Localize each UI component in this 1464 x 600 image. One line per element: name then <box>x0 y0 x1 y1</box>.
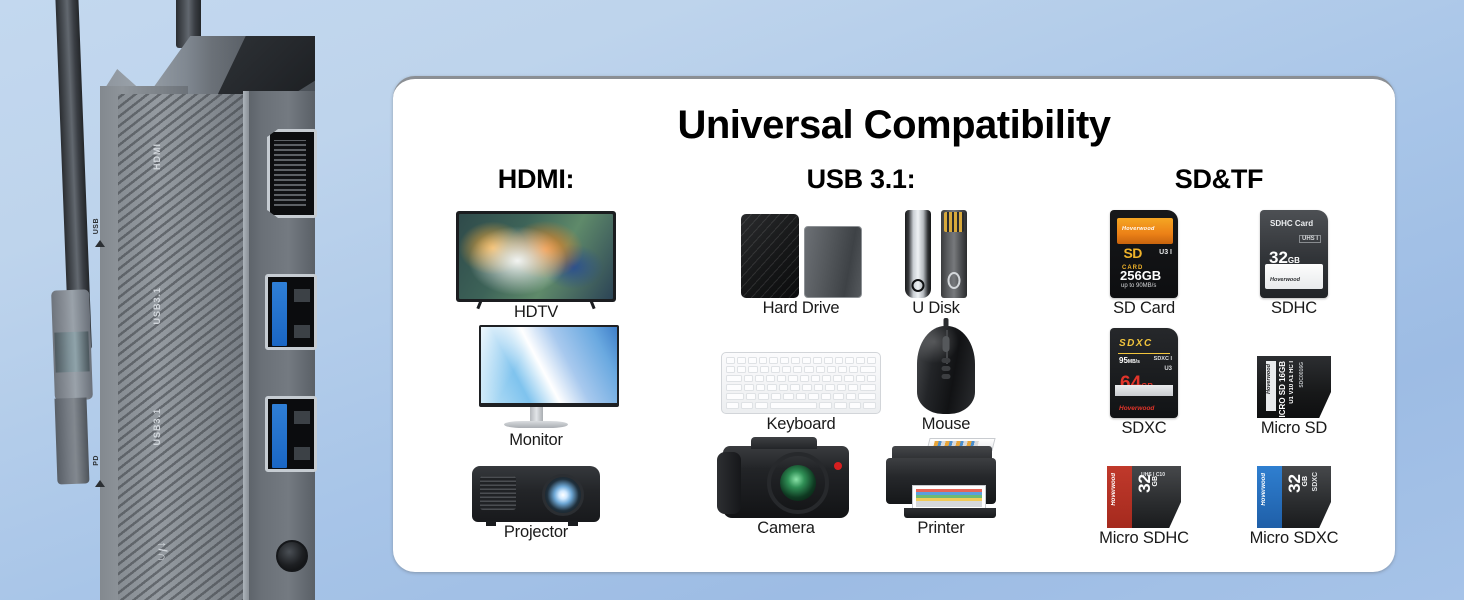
sd-card-uhs-rating: U3 I <box>1159 249 1172 256</box>
item-hard-drive[interactable]: Hard Drive <box>726 202 876 318</box>
item-mouse[interactable]: Mouse <box>886 318 1006 434</box>
monitor-icon <box>453 322 619 430</box>
item-sdhc[interactable]: SDHC Card UHS I 32GB Hoverwood SDHC <box>1219 202 1369 318</box>
keyboard-icon <box>716 318 886 414</box>
projector-icon <box>453 450 619 522</box>
sdxc-brand: Hoverwood <box>1119 405 1154 412</box>
micro-sdhc-badge: UHS I C10 <box>1141 472 1165 478</box>
row-usb-3: Camera Printer <box>671 434 1051 538</box>
column-hdmi: HDMI: HDTV <box>401 164 671 548</box>
row-usb-1: Hard Drive U Disk <box>671 202 1051 318</box>
hard-drive-icon <box>726 202 876 298</box>
item-label-projector: Projector <box>453 523 619 542</box>
item-micro-sdhc[interactable]: Hoverwood 32 GB UHS I C10 Micro SDHC <box>1069 438 1219 548</box>
audio-jack-port <box>276 540 308 572</box>
item-label-hard-drive: Hard Drive <box>726 299 876 318</box>
triangle-marker-icon <box>95 240 105 247</box>
row-hdmi-3: Projector <box>401 450 671 542</box>
sdhc-brand: Hoverwood <box>1270 277 1300 283</box>
usb-flash-drive-icon <box>876 202 996 298</box>
sdxc-uhs-rating: SDXC I <box>1154 356 1172 362</box>
sd-card-speed: up to 90MB/s <box>1121 283 1156 289</box>
compatibility-columns: HDMI: HDTV <box>393 164 1395 548</box>
usb-c-plug-tip <box>55 397 90 484</box>
item-label-micro-sdhc: Micro SDHC <box>1069 529 1219 548</box>
panel-title: Universal Compatibility <box>393 103 1395 148</box>
micro-sd-card-icon: Hoverwood MICRO SD 16GB U1 V10 A1 HC I S… <box>1219 318 1369 418</box>
row-sd-1: Hoverwood SD CARD U3 I 256GB up to 90MB/… <box>1051 202 1387 318</box>
sdxc-card-icon: SDXC 95MB/s SDXC I U3 64GB Hoverwood <box>1069 318 1219 418</box>
micro-sd-brand: Hoverwood <box>1266 364 1272 394</box>
micro-sdxc-brand: Hoverwood <box>1261 473 1267 506</box>
usb-3-1-port-lower <box>265 396 317 472</box>
micro-sd-line-1: MICRO SD 16GB <box>1278 361 1287 418</box>
item-monitor[interactable]: Monitor <box>453 322 619 450</box>
row-sd-2: SDXC 95MB/s SDXC I U3 64GB Hoverwood <box>1051 318 1387 438</box>
row-hdmi-2: Monitor <box>401 322 671 450</box>
micro-sd-line-2: U1 V10 A1 HC I <box>1289 361 1295 404</box>
sdhc-title: SDHC Card <box>1270 219 1313 228</box>
sdxc-speed-class: U3 <box>1164 366 1172 372</box>
mouse-icon <box>886 318 1006 414</box>
hdmi-port-pins <box>274 140 306 206</box>
product-photo: HDMI USB3.1 USB3.1 ↑/∩ USB PD <box>0 0 340 600</box>
item-micro-sd[interactable]: Hoverwood MICRO SD 16GB U1 V10 A1 HC I S… <box>1219 318 1369 438</box>
triangle-marker-icon <box>95 480 105 487</box>
port-label-audio: ↑/∩ <box>156 542 170 563</box>
item-u-disk[interactable]: U Disk <box>876 202 996 318</box>
item-label-camera: Camera <box>706 519 866 538</box>
item-sd-card[interactable]: Hoverwood SD CARD U3 I 256GB up to 90MB/… <box>1069 202 1219 318</box>
sd-card-capacity: 256GB <box>1120 268 1161 283</box>
item-printer[interactable]: Printer <box>866 434 1016 538</box>
usb-port-contact <box>294 289 310 302</box>
micro-sdxc-card-icon: Hoverwood 32 GB SDXC <box>1219 438 1369 528</box>
usb-port-contact <box>294 447 310 460</box>
usb-c-plug-band <box>54 331 89 372</box>
port-label-usb-1: USB3.1 <box>152 287 162 325</box>
column-sd-tf: SD&TF Hoverwood SD CARD U3 I 256GB <box>1051 164 1387 548</box>
usb-port-contact <box>294 411 310 424</box>
item-label-sd-card: SD Card <box>1069 299 1219 318</box>
micro-sdxc-type: SDXC <box>1312 472 1319 491</box>
marker-label-usb: USB <box>93 218 100 234</box>
item-label-micro-sd: Micro SD <box>1219 419 1369 438</box>
item-label-keyboard: Keyboard <box>716 415 886 434</box>
usb-port-blue-tongue <box>272 282 287 346</box>
camera-icon <box>706 434 866 518</box>
micro-sd-line-3: SDC0016G <box>1299 362 1305 388</box>
sd-card-icon: Hoverwood SD CARD U3 I 256GB up to 90MB/… <box>1069 202 1219 298</box>
column-usb: USB 3.1: Hard Drive U Disk <box>671 164 1051 548</box>
item-label-u-disk: U Disk <box>876 299 996 318</box>
item-micro-sdxc[interactable]: Hoverwood 32 GB SDXC Micro SDXC <box>1219 438 1369 548</box>
item-label-sdxc: SDXC <box>1069 419 1219 438</box>
hub-edge-highlight <box>243 91 249 600</box>
port-label-usb-2: USB3.1 <box>152 408 162 446</box>
item-sdxc[interactable]: SDXC 95MB/s SDXC I U3 64GB Hoverwood <box>1069 318 1219 438</box>
hub-grill-face <box>118 94 248 600</box>
universal-compatibility-panel: Universal Compatibility HDMI: HDTV <box>393 76 1395 572</box>
micro-sdhc-card-icon: Hoverwood 32 GB UHS I C10 <box>1069 438 1219 528</box>
item-label-sdhc: SDHC <box>1219 299 1369 318</box>
column-header-usb: USB 3.1: <box>671 164 1051 202</box>
item-label-micro-sdxc: Micro SDXC <box>1219 529 1369 548</box>
item-label-printer: Printer <box>866 519 1016 538</box>
sdhc-badge: UHS I <box>1299 235 1321 243</box>
column-header-hdmi: HDMI: <box>401 164 671 202</box>
item-camera[interactable]: Camera <box>706 434 866 538</box>
sdhc-card-icon: SDHC Card UHS I 32GB Hoverwood <box>1219 202 1369 298</box>
usb-3-1-port-upper <box>265 274 317 350</box>
item-label-monitor: Monitor <box>453 431 619 450</box>
micro-sdhc-brand: Hoverwood <box>1111 473 1117 506</box>
item-hdtv[interactable]: HDTV <box>453 202 619 322</box>
row-sd-3: Hoverwood 32 GB UHS I C10 Micro SDHC Hov… <box>1051 438 1387 548</box>
usb-port-contact <box>294 325 310 338</box>
row-usb-2: Keyboard Mouse <box>671 318 1051 434</box>
usb-port-blue-tongue <box>272 404 287 468</box>
sdxc-title: SDXC <box>1119 338 1153 349</box>
column-header-sd-tf: SD&TF <box>1051 164 1387 202</box>
port-label-hdmi: HDMI <box>152 143 162 170</box>
item-label-mouse: Mouse <box>886 415 1006 434</box>
item-projector[interactable]: Projector <box>453 450 619 542</box>
item-keyboard[interactable]: Keyboard <box>716 318 886 434</box>
micro-sdxc-capacity-unit: GB <box>1302 476 1309 487</box>
sdxc-speed: 95MB/s <box>1119 356 1140 365</box>
sd-card-brand: Hoverwood <box>1122 226 1155 232</box>
marker-label-pd: PD <box>93 455 100 466</box>
hdtv-icon <box>453 202 619 302</box>
row-hdmi-1: HDTV <box>401 202 671 322</box>
printer-icon <box>866 434 1016 518</box>
